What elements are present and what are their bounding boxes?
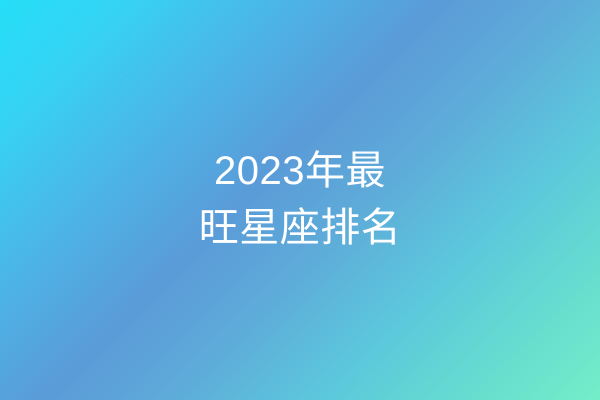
page-title: 2023年最 旺星座排名: [175, 143, 426, 257]
title-line-2: 旺星座排名: [199, 200, 402, 257]
gradient-banner: 2023年最 旺星座排名: [0, 0, 600, 400]
title-line-1: 2023年最: [199, 143, 402, 200]
